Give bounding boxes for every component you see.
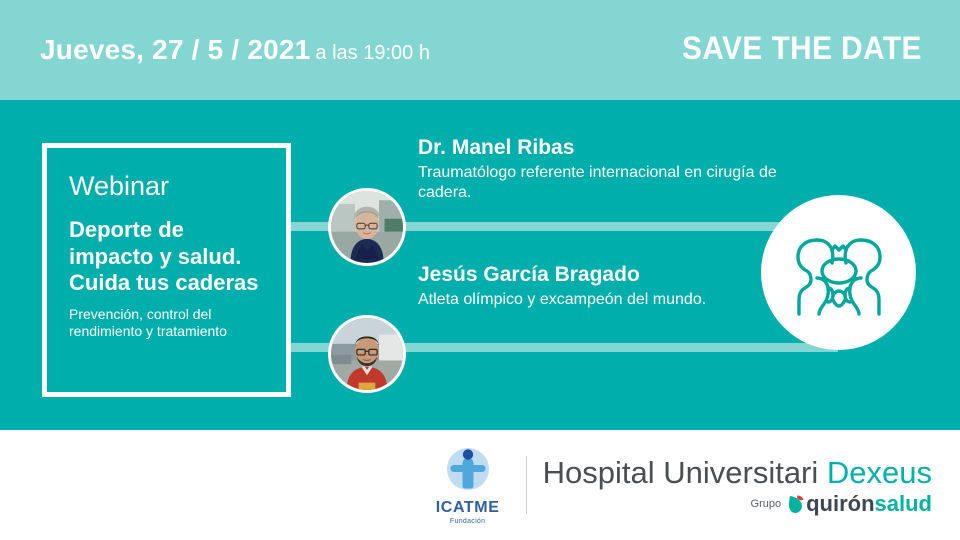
group-brand: Grupo quirónsalud — [543, 493, 932, 515]
icatme-logo: ICATME Fundación — [426, 446, 510, 525]
icatme-subtitle: Fundación — [426, 518, 510, 525]
speaker-role: Traumatólogo referente internacional en … — [418, 163, 778, 203]
speaker-name: Dr. Manel Ribas — [418, 136, 778, 160]
footer-logo-group: ICATME Fundación Hospital Universitari D… — [426, 442, 932, 528]
logo-divider — [526, 456, 527, 514]
main-content-area: Webinar Deporte de impacto y salud. Cuid… — [0, 100, 960, 430]
header-band: Jueves, 27 / 5 / 2021a las 19:00 h SAVE … — [0, 0, 960, 100]
salud-text: salud — [875, 491, 932, 516]
save-the-date-heading: SAVE THE DATE — [682, 32, 922, 64]
hospital-name-accent: Dexeus — [827, 455, 932, 490]
hospital-logo: Hospital Universitari Dexeus Grupo quiró… — [543, 455, 932, 515]
footer: ICATME Fundación Hospital Universitari D… — [0, 430, 960, 540]
quironsalud-leaf-icon — [788, 494, 805, 514]
hospital-name-primary: Hospital Universitari — [543, 455, 819, 490]
doctor-portrait-icon — [331, 191, 403, 263]
group-prefix: Grupo — [751, 498, 782, 510]
hip-bone-icon — [787, 226, 891, 320]
event-date-main: Jueves, 27 / 5 / 2021 — [40, 34, 310, 65]
webinar-subtitle: Prevención, control del rendimiento y tr… — [69, 306, 272, 342]
icatme-name: ICATME — [426, 500, 510, 516]
quiron-text: quirón — [806, 491, 874, 516]
webinar-info-box: Webinar Deporte de impacto y salud. Cuid… — [42, 143, 291, 397]
save-the-date-poster: Jueves, 27 / 5 / 2021a las 19:00 h SAVE … — [0, 0, 960, 540]
webinar-kicker: Webinar — [69, 172, 272, 200]
hip-icon-circle — [761, 195, 916, 350]
quironsalud-wordmark: quirónsalud — [788, 493, 932, 515]
icatme-person-icon — [443, 446, 493, 492]
athlete-portrait-icon — [331, 318, 403, 390]
speaker-name: Jesús García Bragado — [418, 263, 778, 287]
event-date-time: a las 19:00 h — [315, 42, 430, 64]
hospital-name: Hospital Universitari Dexeus — [543, 457, 932, 490]
speaker-role: Atleta olímpico y excampeón del mundo. — [418, 290, 778, 310]
avatar — [328, 188, 406, 266]
event-date: Jueves, 27 / 5 / 2021a las 19:00 h — [40, 36, 430, 64]
webinar-title: Deporte de impacto y salud. Cuida tus ca… — [69, 217, 272, 296]
avatar — [328, 315, 406, 393]
